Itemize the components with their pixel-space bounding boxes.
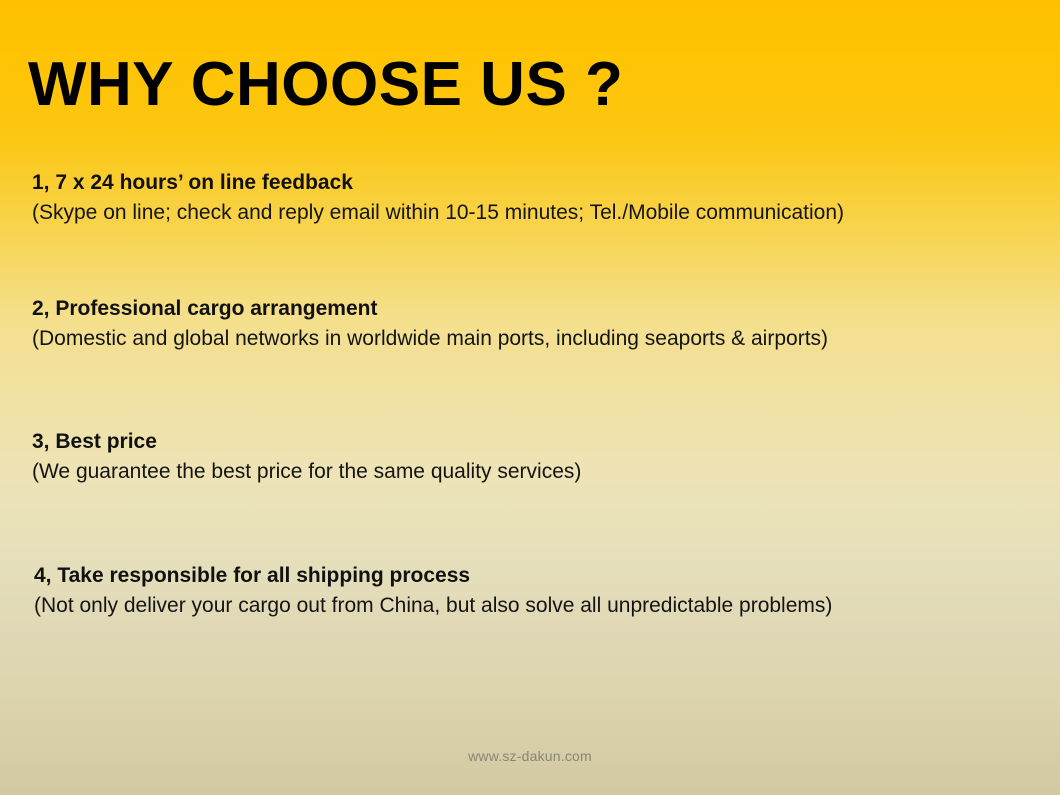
point-2-detail: (Domestic and global networks in worldwi…: [32, 324, 1060, 355]
point-item-3: 3, Best price (We guarantee the best pri…: [0, 427, 1060, 487]
point-4-detail: (Not only deliver your cargo out from Ch…: [34, 591, 1060, 622]
page-title: WHY CHOOSE US ?: [28, 52, 623, 117]
point-item-1: 1, 7 x 24 hours’ on line feedback (Skype…: [0, 168, 1060, 228]
point-1-heading: 1, 7 x 24 hours’ on line feedback: [32, 168, 1060, 198]
point-item-2: 2, Professional cargo arrangement (Domes…: [0, 294, 1060, 354]
point-1-detail: (Skype on line; check and reply email wi…: [32, 198, 1060, 229]
point-4-heading: 4, Take responsible for all shipping pro…: [34, 561, 1060, 591]
point-3-detail: (We guarantee the best price for the sam…: [32, 457, 1060, 488]
footer-watermark: www.sz-dakun.com: [0, 748, 1060, 764]
point-2-heading: 2, Professional cargo arrangement: [32, 294, 1060, 324]
point-3-heading: 3, Best price: [32, 427, 1060, 457]
point-item-4: 4, Take responsible for all shipping pro…: [0, 561, 1060, 621]
slide-canvas: WHY CHOOSE US ? 1, 7 x 24 hours’ on line…: [0, 0, 1060, 795]
